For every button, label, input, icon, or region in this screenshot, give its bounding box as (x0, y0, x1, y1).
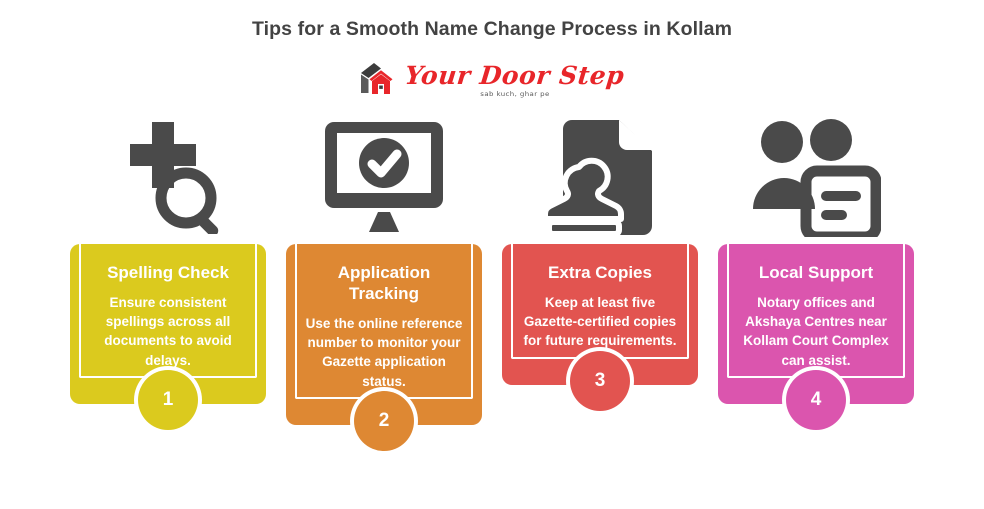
card-body: Use the online reference number to monit… (302, 314, 466, 391)
tip-icon-3 (502, 112, 698, 244)
house-icon (359, 60, 401, 100)
magnifier-plus-icon (102, 122, 234, 234)
tip-card-3[interactable]: Extra Copies Keep at least five Gazette-… (502, 244, 698, 385)
card-body: Keep at least five Gazette-certified cop… (518, 293, 682, 350)
document-stamp-icon (537, 119, 663, 237)
tip-column-3: Extra Copies Keep at least five Gazette-… (502, 112, 698, 385)
tip-icon-4 (718, 112, 914, 244)
card-title: Extra Copies (518, 262, 682, 283)
card-body: Notary offices and Akshaya Centres near … (734, 293, 898, 370)
card-number-badge: 1 (134, 366, 202, 434)
card-number-badge: 2 (350, 387, 418, 455)
brand-tagline: sab kuch, ghar pe (480, 91, 549, 97)
monitor-check-icon (321, 120, 447, 236)
card-number-badge: 3 (566, 347, 634, 415)
tips-columns: Spelling Check Ensure consistent spellin… (0, 112, 984, 502)
tip-column-2: Application Tracking Use the online refe… (286, 112, 482, 425)
card-number-badge: 4 (782, 366, 850, 434)
brand-logo: Your Door Step sab kuch, ghar pe (0, 57, 984, 103)
card-title: Application Tracking (302, 262, 466, 304)
page-title: Tips for a Smooth Name Change Process in… (0, 18, 984, 41)
card-number: 2 (354, 391, 414, 451)
card-number: 3 (570, 351, 630, 411)
tip-column-1: Spelling Check Ensure consistent spellin… (70, 112, 266, 404)
tip-icon-2 (286, 112, 482, 244)
brand-wordmark: Your Door Step (404, 63, 626, 88)
card-body: Ensure consistent spellings across all d… (86, 293, 250, 370)
tip-card-2[interactable]: Application Tracking Use the online refe… (286, 244, 482, 425)
tip-card-1[interactable]: Spelling Check Ensure consistent spellin… (70, 244, 266, 404)
tip-column-4: Local Support Notary offices and Akshaya… (718, 112, 914, 404)
card-title: Local Support (734, 262, 898, 283)
tip-icon-1 (70, 112, 266, 244)
tip-card-4[interactable]: Local Support Notary offices and Akshaya… (718, 244, 914, 404)
card-number: 1 (138, 370, 198, 430)
card-title: Spelling Check (86, 262, 250, 283)
people-document-icon (751, 119, 881, 237)
card-number: 4 (786, 370, 846, 430)
